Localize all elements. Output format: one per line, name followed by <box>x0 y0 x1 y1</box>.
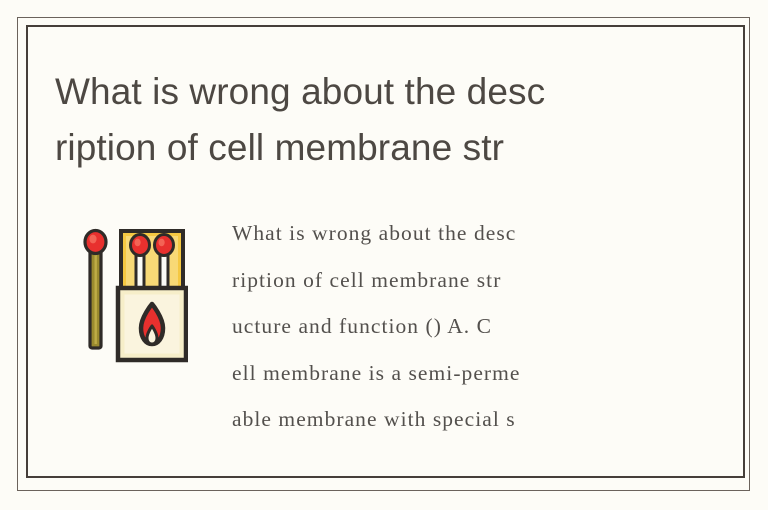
question-body-text: What is wrong about the desc ription of … <box>232 210 652 443</box>
question-card: What is wrong about the desc ription of … <box>0 0 768 510</box>
matchbox-with-matches-icon <box>78 220 188 370</box>
content-row: What is wrong about the desc ription of … <box>0 200 768 460</box>
page-title: What is wrong about the desc ription of … <box>55 64 695 176</box>
